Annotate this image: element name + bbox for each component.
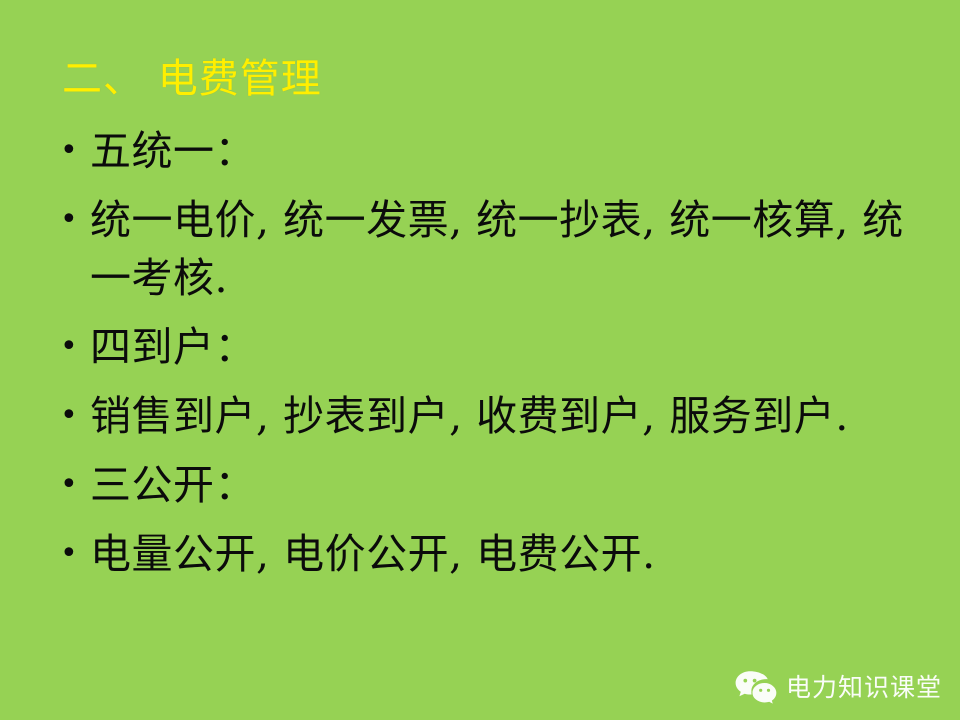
list-item: • 销售到户, 抄表到户, 收费到户, 服务到户. [56, 387, 922, 445]
list-item: • 五统一： [56, 122, 922, 180]
list-item-text: 五统一： [90, 122, 922, 180]
list-item-text: 三公开： [90, 456, 922, 514]
watermark-label: 电力知识课堂 [786, 674, 942, 702]
list-item: • 三公开： [56, 456, 922, 514]
list-item-text: 销售到户, 抄表到户, 收费到户, 服务到户. [90, 387, 922, 445]
bullet-icon: • [56, 456, 90, 514]
list-item: • 电量公开, 电价公开, 电费公开. [56, 525, 922, 583]
slide-canvas: 二、 电费管理 • 五统一： • 统一电价, 统一发票, 统一抄表, 统一核算,… [0, 0, 960, 720]
bullet-icon: • [56, 191, 90, 249]
watermark: 电力知识课堂 [734, 670, 942, 706]
list-item-text: 电量公开, 电价公开, 电费公开. [90, 525, 922, 583]
bullet-list: • 五统一： • 统一电价, 统一发票, 统一抄表, 统一核算, 统一考核. •… [56, 122, 922, 583]
bullet-icon: • [56, 387, 90, 445]
bullet-icon: • [56, 318, 90, 376]
list-item: • 统一电价, 统一发票, 统一抄表, 统一核算, 统一考核. [56, 191, 922, 307]
list-item-text: 四到户： [90, 318, 922, 376]
wechat-icon [734, 670, 778, 706]
bullet-icon: • [56, 122, 90, 180]
page-title: 二、 电费管理 [62, 56, 322, 102]
list-item: • 四到户： [56, 318, 922, 376]
list-item-text: 统一电价, 统一发票, 统一抄表, 统一核算, 统一考核. [90, 191, 922, 307]
bullet-icon: • [56, 525, 90, 583]
